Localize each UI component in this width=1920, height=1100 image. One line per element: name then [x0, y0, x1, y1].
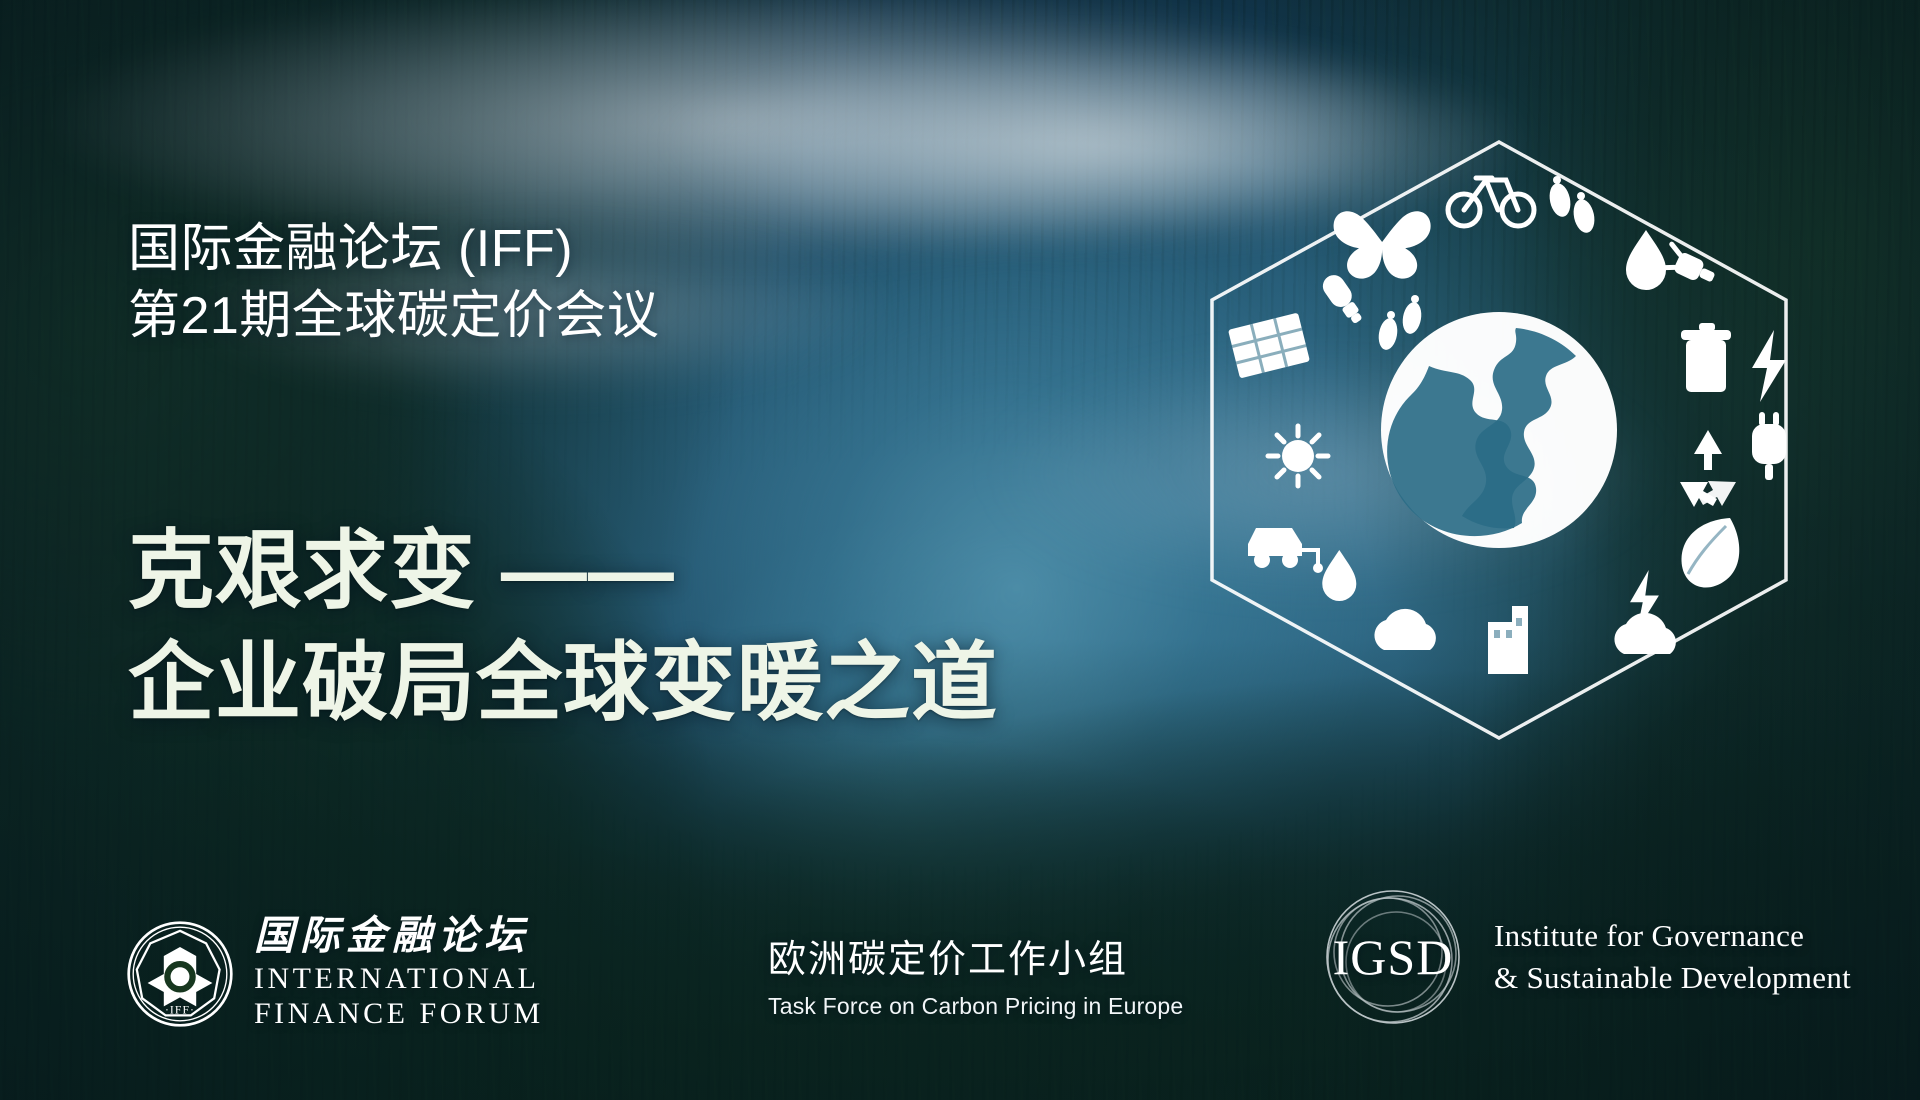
- water-drop-icon: [1322, 550, 1356, 601]
- light-bulb-icon: [1319, 271, 1368, 328]
- recycle-icon: [1680, 430, 1736, 507]
- cloud-icon: [1374, 609, 1435, 650]
- event-subtitle-line-1: 国际金融论坛 (IFF): [128, 216, 659, 283]
- iff-logo-lockup: ·IFF· 国际金融论坛 INTERNATIONAL FINANCE FORUM: [126, 916, 544, 1032]
- water-drop-icon: [1626, 230, 1666, 290]
- sun-icon: [1268, 426, 1328, 486]
- task-force-lockup: 欧洲碳定价工作小组 Task Force on Carbon Pricing i…: [768, 928, 1183, 1020]
- cloud-icon: [1614, 613, 1675, 654]
- factory-icon: [1488, 606, 1528, 674]
- igsd-name-line-1: Institute for Governance: [1494, 915, 1851, 957]
- butterfly-icon: [1334, 211, 1431, 278]
- globe-icon: [1381, 312, 1617, 548]
- igsd-abbreviation: IGSD: [1318, 882, 1468, 1032]
- electric-plug-icon: [1752, 412, 1786, 480]
- igsd-logo-lockup: IGSD Institute for Governance & Sustaina…: [1318, 882, 1851, 1032]
- page-title: 克艰求变 —— 企业破局全球变暖之道: [128, 516, 998, 740]
- svg-text:·IFF·: ·IFF·: [165, 1004, 195, 1017]
- page-title-line-1: 克艰求变 ——: [128, 516, 998, 628]
- solar-panel-icon: [1228, 313, 1310, 379]
- igsd-full-name: Institute for Governance & Sustainable D…: [1494, 915, 1851, 998]
- banner-content: 国际金融论坛 (IFF) 第21期全球碳定价会议 克艰求变 —— 企业破局全球变…: [0, 0, 1920, 1100]
- iff-seal-icon: ·IFF·: [126, 920, 234, 1028]
- power-plug-icon: [1661, 244, 1719, 290]
- footer-logo-row: ·IFF· 国际金融论坛 INTERNATIONAL FINANCE FORUM…: [0, 870, 1920, 1100]
- sustainability-emblem: [1200, 130, 1798, 750]
- task-force-english-name: Task Force on Carbon Pricing in Europe: [768, 993, 1183, 1020]
- igsd-name-line-2: & Sustainable Development: [1494, 957, 1851, 999]
- event-subtitle-line-2: 第21期全球碳定价会议: [128, 283, 659, 350]
- footprint-icon: [1547, 176, 1598, 235]
- footprint-icon: [1376, 295, 1423, 351]
- lightning-bolt-icon: [1752, 330, 1786, 402]
- iff-wordmark: 国际金融论坛 INTERNATIONAL FINANCE FORUM: [254, 916, 544, 1032]
- page-title-line-2: 企业破局全球变暖之道: [128, 628, 998, 740]
- iff-english-line-1: INTERNATIONAL: [254, 962, 539, 995]
- leaf-icon: [1681, 518, 1739, 588]
- igsd-mark: IGSD: [1318, 882, 1468, 1032]
- task-force-chinese-name: 欧洲碳定价工作小组: [768, 928, 1183, 983]
- conference-banner: 国际金融论坛 (IFF) 第21期全球碳定价会议 克艰求变 —— 企业破局全球变…: [0, 0, 1920, 1100]
- event-subtitle: 国际金融论坛 (IFF) 第21期全球碳定价会议: [128, 216, 659, 349]
- bicycle-icon: [1448, 178, 1534, 226]
- iff-chinese-name: 国际金融论坛: [254, 916, 544, 956]
- iff-english-name: INTERNATIONAL FINANCE FORUM: [254, 962, 544, 1032]
- iff-english-line-2: FINANCE FORUM: [254, 997, 544, 1030]
- trash-bin-icon: [1681, 323, 1731, 392]
- car-icon: [1248, 528, 1323, 573]
